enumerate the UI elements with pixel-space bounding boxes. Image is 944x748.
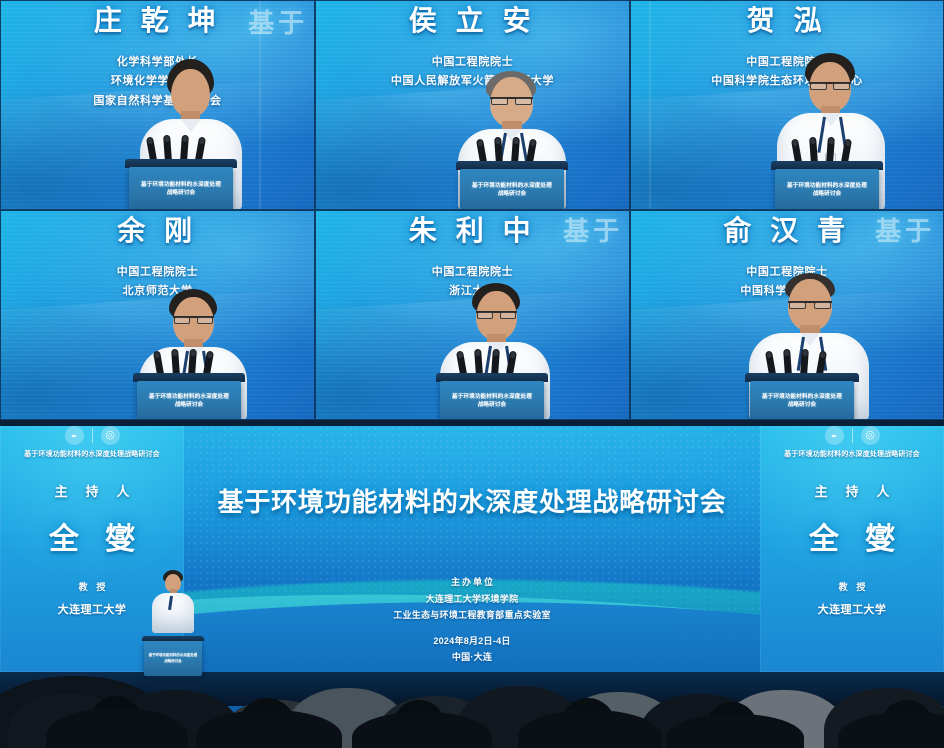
podium-sign-line2: 战略研讨会: [498, 190, 527, 198]
organizer-line-2: 工业生态与环境工程教育部重点实验室: [184, 608, 760, 621]
logo-row-right: ◒ ◎: [825, 426, 880, 445]
podium-2: 基于环境功能材料的水深度处理 战略研讨会: [456, 161, 568, 210]
lab-logo-icon: ◎: [861, 426, 880, 445]
speaker-panel-2[interactable]: 侯 立 安 中国工程院院士 中国人民解放军火箭军工程大学: [315, 0, 630, 210]
dlut-logo-icon: ◒: [825, 426, 844, 445]
speaker-photo-collage: 基于 庄 乾 坤 化学科学部处长 环境化学学科主任 国家自然科学基金委员会: [0, 0, 944, 748]
podium-sign-line2: 战略研讨会: [167, 189, 196, 197]
speaker-panel-1[interactable]: 基于 庄 乾 坤 化学科学部处长 环境化学学科主任 国家自然科学基金委员会: [0, 0, 315, 210]
speaker-panel-3[interactable]: 贺 泓 中国工程院院士 中国科学院生态环境研究中心: [630, 0, 944, 210]
speaker-name-6: 俞 汉 青: [631, 211, 943, 245]
stage-top-trim: [0, 420, 944, 426]
podium-sign-line2: 战略研讨会: [813, 190, 842, 198]
podium-6: 基于环境功能材料的水深度处理 战略研讨会: [745, 373, 859, 420]
host-organization-right: 大连理工大学: [818, 601, 887, 617]
logo-glyph: ◒: [831, 430, 838, 441]
podium-sign-line2: 战略研讨会: [478, 401, 507, 409]
stage-wide-shot[interactable]: 基于环境功能材料的水深度处理战略研讨会 主办单位 大连理工大学环境学院 工业生态…: [0, 420, 944, 748]
logo-row-left: ◒ ◎: [65, 426, 120, 445]
speaker-name-1: 庄 乾 坤: [1, 1, 314, 35]
side-banner-title-right: 基于环境功能材料的水深度处理战略研讨会: [784, 449, 920, 459]
affiliation-line: 中国工程院院士: [316, 53, 629, 72]
speaker-panel-5[interactable]: 基于 朱 利 中 中国工程院院士 浙江大学: [315, 210, 630, 420]
affiliation-line: 中国工程院院士: [316, 263, 629, 282]
speaker-name-2: 侯 立 安: [316, 1, 629, 35]
podium-sign-line1: 基于环境功能材料的水深度处理: [149, 393, 229, 401]
speaker-panel-4[interactable]: 余 刚 中国工程院院士 北京师范大学: [0, 210, 315, 420]
speaker-name-3: 贺 泓: [631, 1, 943, 35]
organizer-line-1: 大连理工大学环境学院: [184, 592, 760, 605]
podium-sign-line1: 基于环境功能材料的水深度处理: [762, 393, 842, 401]
host-name-right: 全 燮: [800, 514, 904, 558]
host-role-label-right: 主 持 人: [807, 481, 896, 500]
logo-glyph: ◎: [105, 430, 115, 441]
host-organization-left: 大连理工大学: [58, 601, 127, 617]
logo-divider: [852, 428, 853, 443]
audience-silhouettes: [0, 636, 944, 748]
host-name-left: 全 燮: [40, 514, 144, 558]
podium-sign-line1: 基于环境功能材料的水深度处理: [141, 181, 221, 189]
podium-4: 基于环境功能材料的水深度处理 战略研讨会: [133, 373, 245, 420]
host-title-left: 教 授: [75, 580, 108, 593]
dlut-logo-icon: ◒: [65, 426, 84, 445]
speaker-name-4: 余 刚: [1, 211, 314, 245]
organizer-label: 主办单位: [184, 575, 760, 588]
logo-divider: [92, 428, 93, 443]
lab-logo-icon: ◎: [101, 426, 120, 445]
conference-main-title: 基于环境功能材料的水深度处理战略研讨会: [184, 482, 760, 519]
podium-sign-line1: 基于环境功能材料的水深度处理: [452, 393, 532, 401]
speaker-panel-6[interactable]: 基于 俞 汉 青 中国工程院院士 中国科学技术大学: [630, 210, 944, 420]
side-panel-right: ◒ ◎ 基于环境功能材料的水深度处理战略研讨会 主 持 人 全 燮 教 授 大连…: [760, 420, 944, 672]
side-banner-title-left: 基于环境功能材料的水深度处理战略研讨会: [24, 449, 160, 459]
podium-sign-line2: 战略研讨会: [175, 401, 204, 409]
speaker-grid: 基于 庄 乾 坤 化学科学部处长 环境化学学科主任 国家自然科学基金委员会: [0, 0, 944, 420]
led-center-content: 基于环境功能材料的水深度处理战略研讨会 主办单位 大连理工大学环境学院 工业生态…: [184, 420, 760, 672]
host-title-right: 教 授: [835, 580, 868, 593]
affiliation-line: 中国工程院院士: [1, 263, 314, 282]
podium-sign-line1: 基于环境功能材料的水深度处理: [472, 182, 552, 190]
host-role-label-left: 主 持 人: [47, 481, 136, 500]
podium-1: 基于环境功能材料的水深度处理 战略研讨会: [125, 159, 237, 210]
speaker-name-5: 朱 利 中: [316, 211, 629, 245]
podium-sign-line1: 基于环境功能材料的水深度处理: [787, 182, 867, 190]
logo-glyph: ◎: [865, 430, 875, 441]
podium-sign-line2: 战略研讨会: [788, 401, 817, 409]
podium-3: 基于环境功能材料的水深度处理 战略研讨会: [771, 161, 883, 210]
logo-glyph: ◒: [71, 430, 78, 441]
podium-5: 基于环境功能材料的水深度处理 战略研讨会: [436, 373, 548, 420]
